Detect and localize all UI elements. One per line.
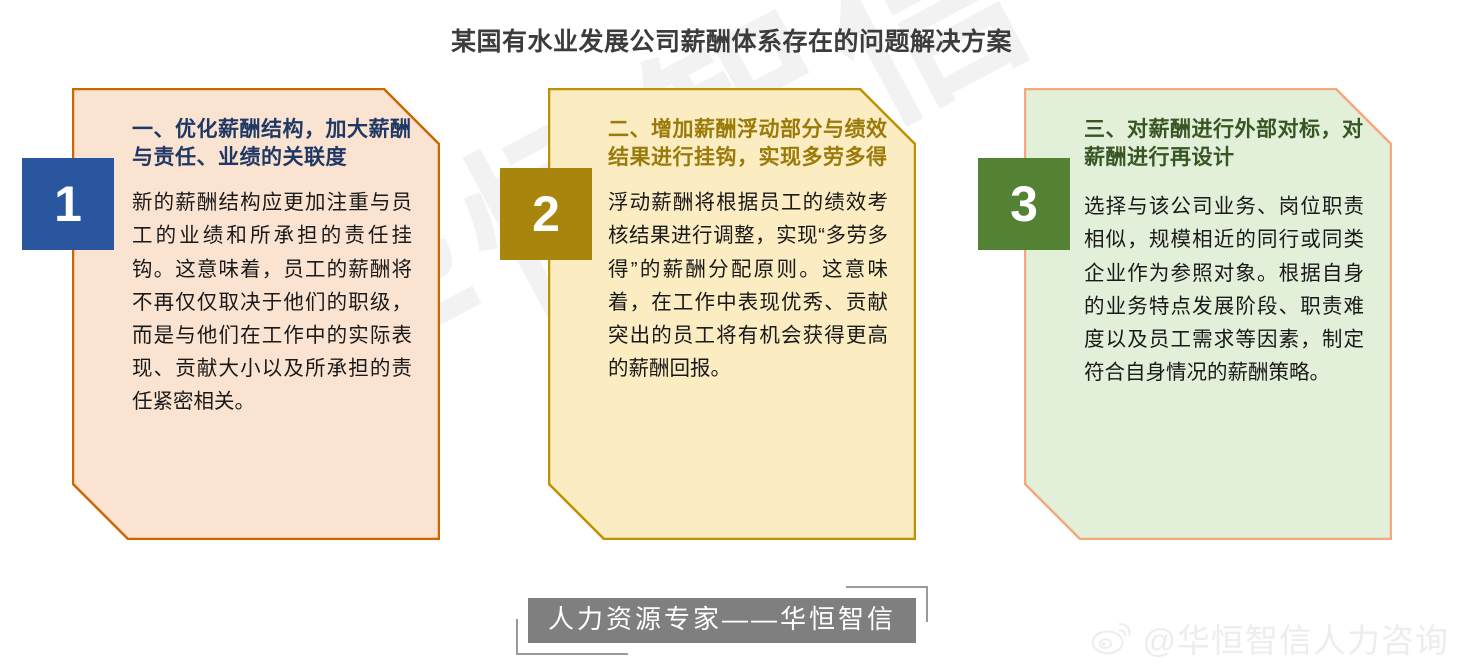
- card-3-body: 选择与该公司业务、岗位职责相似，规模相近的同行或同类企业作为参照对象。根据自身的…: [1084, 190, 1364, 389]
- weibo-icon: [1091, 621, 1133, 655]
- card-3-number-badge: 3: [978, 158, 1070, 250]
- bracket-top-right: [846, 586, 928, 622]
- card-2-number-badge: 2: [500, 168, 592, 260]
- page-title: 某国有水业发展公司薪酬体系存在的问题解决方案: [0, 22, 1463, 58]
- card-3-heading: 三、对薪酬进行外部对标，对薪酬进行再设计: [1084, 116, 1364, 172]
- weibo-handle: @华恒智信人力咨询: [1143, 614, 1450, 662]
- solution-card-3: 三、对薪酬进行外部对标，对薪酬进行再设计 选择与该公司业务、岗位职责相似，规模相…: [1024, 88, 1392, 540]
- bracket-bottom-left: [516, 619, 628, 655]
- solution-card-2: 二、增加薪酬浮动部分与绩效结果进行挂钩，实现多劳多得 浮动薪酬将根据员工的绩效考…: [548, 88, 916, 540]
- weibo-watermark: @华恒智信人力咨询: [1091, 614, 1450, 662]
- footer-badge: 人力资源专家——华恒智信: [528, 598, 916, 643]
- cards-container: 一、优化薪酬结构，加大薪酬与责任、业绩的关联度 新的薪酬结构应更加注重与员工的业…: [0, 88, 1463, 548]
- card-2-heading: 二、增加薪酬浮动部分与绩效结果进行挂钩，实现多劳多得: [608, 116, 888, 172]
- card-1-number-badge: 1: [22, 158, 114, 250]
- card-1-body: 新的薪酬结构应更加注重与员工的业绩和所承担的责任挂钩。这意味着，员工的薪酬将不再…: [132, 186, 412, 418]
- card-2-body: 浮动薪酬将根据员工的绩效考核结果进行调整，实现“多劳多得”的薪酬分配原则。这意味…: [608, 186, 888, 385]
- solution-card-1: 一、优化薪酬结构，加大薪酬与责任、业绩的关联度 新的薪酬结构应更加注重与员工的业…: [72, 88, 440, 540]
- card-1-heading: 一、优化薪酬结构，加大薪酬与责任、业绩的关联度: [132, 116, 412, 172]
